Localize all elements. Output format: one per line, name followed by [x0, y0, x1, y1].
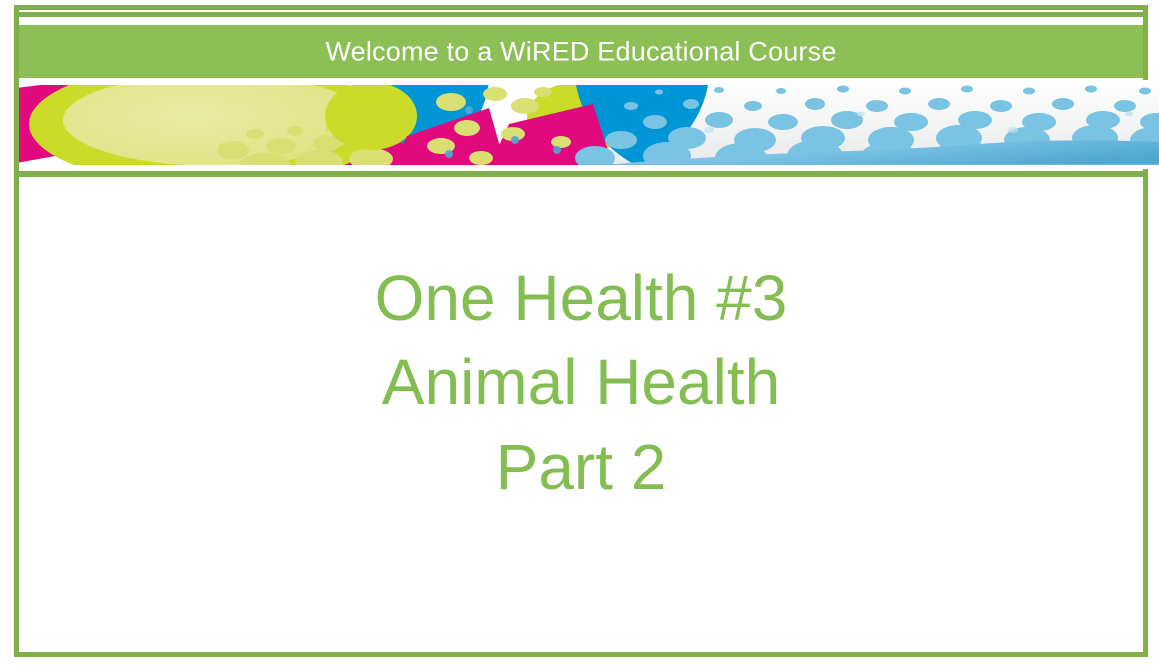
- slide-header: Welcome to a WiRED Educational Course: [19, 8, 1159, 178]
- welcome-title-bar: Welcome to a WiRED Educational Course: [19, 25, 1143, 78]
- slide-content-area: One Health #3 Animal Health Part 2: [19, 182, 1143, 652]
- title-line-2: Animal Health: [19, 340, 1143, 424]
- header-bottom-divider: [19, 171, 1143, 177]
- header-top-divider: [19, 12, 1143, 17]
- banner-graphic-icon: [19, 80, 1159, 169]
- title-line-3: Part 2: [19, 425, 1143, 509]
- colorful-halftone-dots-banner: [19, 80, 1159, 169]
- welcome-title-text: Welcome to a WiRED Educational Course: [19, 38, 1143, 65]
- slide-main-title: One Health #3 Animal Health Part 2: [19, 256, 1143, 509]
- presentation-slide: Welcome to a WiRED Educational Course: [0, 0, 1159, 670]
- title-line-1: One Health #3: [19, 256, 1143, 340]
